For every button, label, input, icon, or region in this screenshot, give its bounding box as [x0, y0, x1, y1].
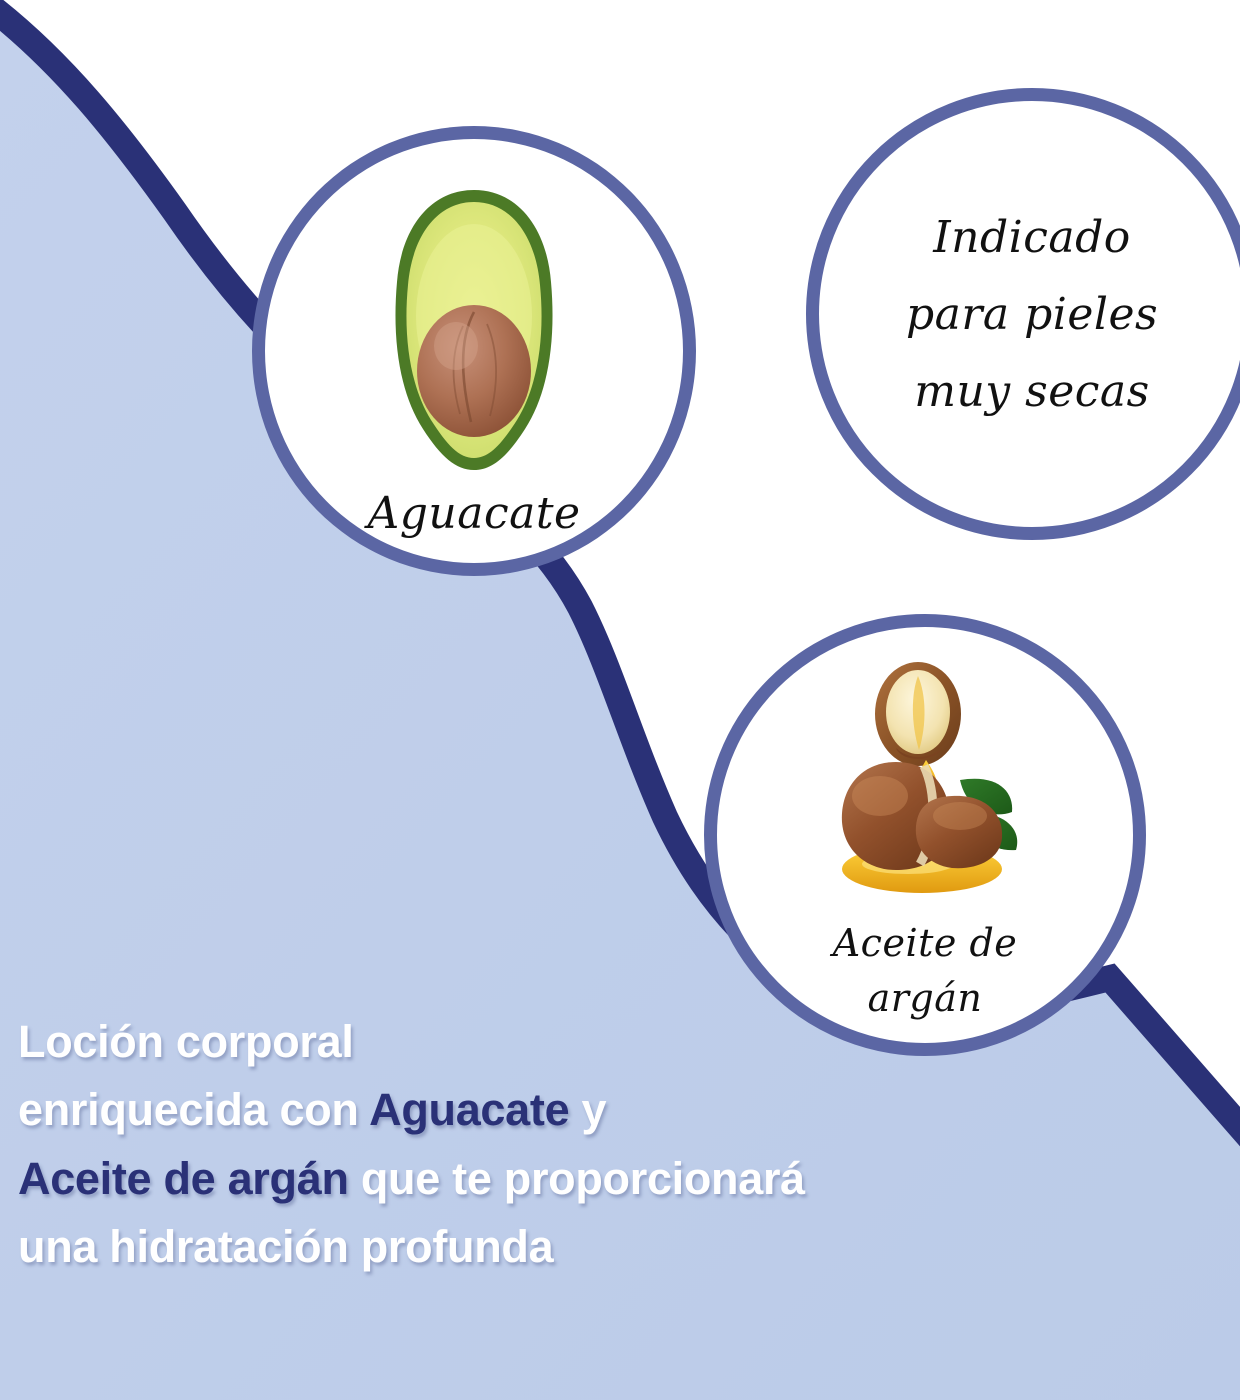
argan-circle-content: Aceite de argán	[717, 627, 1133, 1043]
avocado-circle-content: Aguacate	[265, 139, 683, 563]
avocado-label: Aguacate	[367, 482, 580, 546]
headline-text: enriquecida con	[18, 1084, 369, 1135]
headline-text: una hidratación profunda	[18, 1221, 553, 1272]
claim-text: Indicado para pieles muy secas	[906, 199, 1158, 430]
claim-line-1: Indicado	[906, 199, 1158, 276]
headline: Loción corporalenriquecida con Aguacate …	[18, 1008, 1138, 1282]
promo-banner: Aguacate Indicado para pieles muy secas	[0, 0, 1240, 1400]
headline-text: y	[569, 1084, 606, 1135]
ingredient-circle-avocado: Aguacate	[252, 126, 696, 576]
claim-circle-content: Indicado para pieles muy secas	[819, 101, 1240, 527]
argan-label-line-1: Aceite de	[833, 916, 1018, 971]
headline-text: Loción corporal	[18, 1016, 354, 1067]
headline-line-3: Aceite de argán que te proporcionará	[18, 1145, 1138, 1213]
headline-highlight: Aguacate	[369, 1084, 569, 1135]
argan-oil-icon	[800, 662, 1050, 912]
claim-circle: Indicado para pieles muy secas	[806, 88, 1240, 540]
avocado-icon	[359, 186, 589, 476]
headline-text: que te proporcionará	[349, 1153, 805, 1204]
headline-line-4: una hidratación profunda	[18, 1213, 1138, 1281]
claim-line-2: para pieles	[906, 276, 1158, 353]
headline-line-1: Loción corporal	[18, 1008, 1138, 1076]
headline-line-2: enriquecida con Aguacate y	[18, 1076, 1138, 1144]
headline-highlight: Aceite de argán	[18, 1153, 349, 1204]
claim-line-3: muy secas	[906, 353, 1158, 430]
ingredient-circle-argan: Aceite de argán	[704, 614, 1146, 1056]
